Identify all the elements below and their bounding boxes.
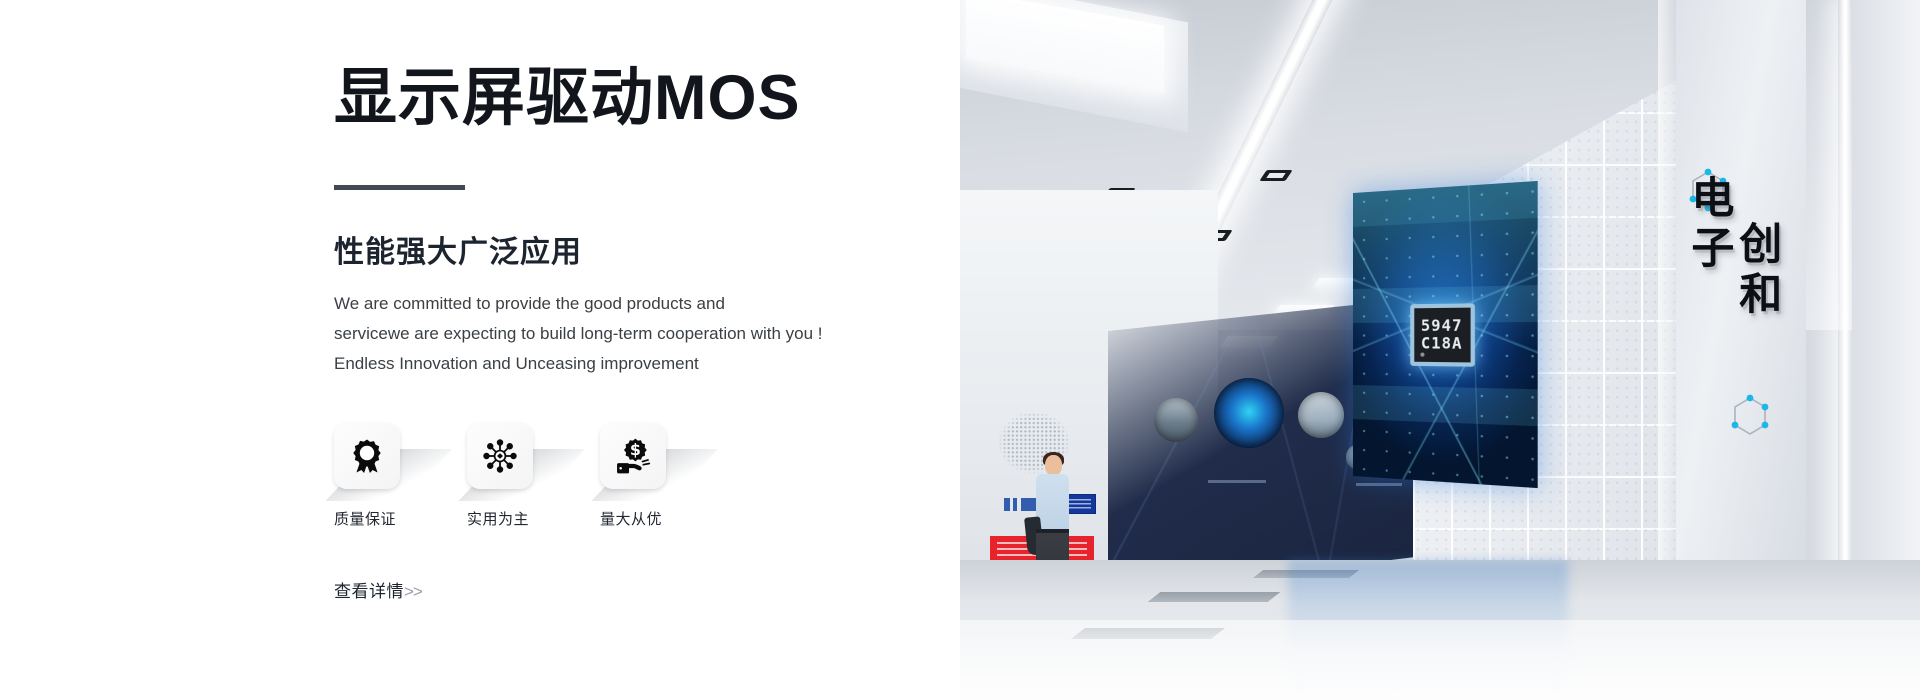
exhibit-porthole xyxy=(1154,398,1198,442)
feature-item-bulk-discount[interactable]: $ 量大从优 xyxy=(600,423,676,529)
award-medal-icon xyxy=(334,423,400,489)
signage-column-right: 创和 xyxy=(1734,221,1778,415)
feature-icon-wrap xyxy=(467,423,543,489)
hand-money-icon: $ xyxy=(600,423,666,489)
chip-pin-1-marker xyxy=(1420,352,1424,356)
title-divider xyxy=(334,185,465,190)
chip-graphic: 5947 C18A xyxy=(1410,303,1475,366)
view-details-link[interactable]: 查看详情>> xyxy=(334,577,422,602)
svg-text:$: $ xyxy=(630,440,641,459)
signage-column-left: 电子 xyxy=(1686,175,1730,415)
banner-content: 显示屏驱动MOS 性能强大广泛应用 We are committed to pr… xyxy=(334,62,914,602)
feature-icon-wrap xyxy=(334,423,410,489)
chip-label-line-2: C18A xyxy=(1421,335,1463,353)
feature-item-practical[interactable]: 实用为主 xyxy=(467,423,543,529)
exhibit-porthole-chip xyxy=(1214,378,1284,448)
floor-inlay-strip xyxy=(1148,592,1281,602)
network-hub-icon xyxy=(467,423,533,489)
head xyxy=(1045,455,1062,476)
feature-label: 质量保证 xyxy=(334,508,410,529)
feature-list: 质量保证 xyxy=(334,423,914,529)
led-display-screen: 5947 C18A xyxy=(1353,181,1538,488)
feature-icon-wrap: $ xyxy=(600,423,676,489)
feature-label: 实用为主 xyxy=(467,508,543,529)
description-line-1: We are committed to provide the good pro… xyxy=(334,289,914,319)
porthole-caption-line xyxy=(1208,480,1266,483)
dress-shirt xyxy=(1036,474,1069,531)
chevron-right-icon: >> xyxy=(404,582,422,601)
feature-item-quality[interactable]: 质量保证 xyxy=(334,423,410,529)
feature-label: 量大从优 xyxy=(600,508,676,529)
exhibit-porthole xyxy=(1298,392,1344,438)
description-paragraph: We are committed to provide the good pro… xyxy=(334,289,914,379)
floor-gloss xyxy=(958,620,1920,700)
hero-banner: 显示屏驱动MOS 性能强大广泛应用 We are committed to pr… xyxy=(0,0,1920,700)
sub-title: 性能强大广泛应用 xyxy=(334,234,914,272)
description-line-3: Endless Innovation and Unceasing improve… xyxy=(334,349,914,379)
description-line-2: servicewe are expecting to build long-te… xyxy=(334,319,914,349)
chip-label-line-1: 5947 xyxy=(1421,317,1463,335)
hexagon-molecule-icon xyxy=(1728,392,1772,442)
porthole-caption-line xyxy=(1356,483,1402,486)
showroom-photo: 5947 C18A 电子 创和 xyxy=(958,0,1920,700)
left-text-panel: 显示屏驱动MOS 性能强大广泛应用 We are committed to pr… xyxy=(0,0,960,700)
view-details-label: 查看详情 xyxy=(334,582,404,601)
page-title: 显示屏驱动MOS xyxy=(334,62,914,134)
wall-signage: 电子 创和 xyxy=(1686,175,1798,415)
